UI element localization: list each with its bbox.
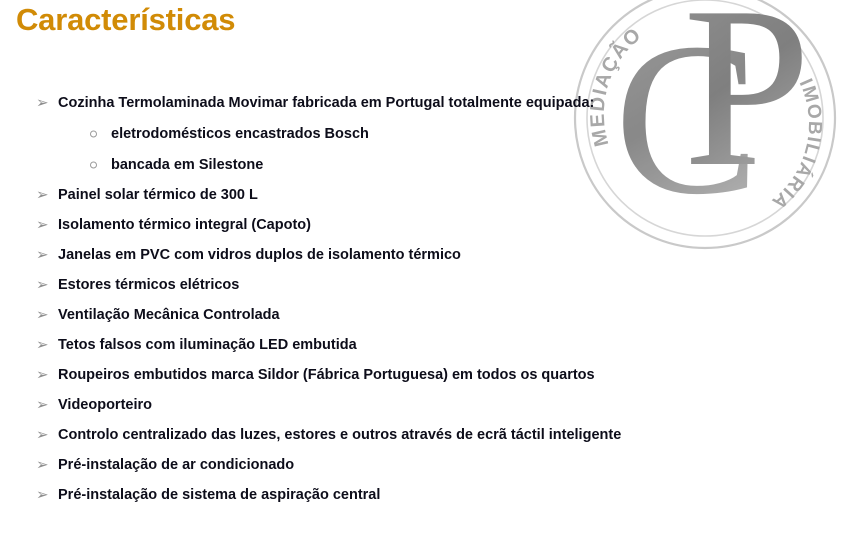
list-item-label: Videoporteiro	[58, 397, 152, 413]
list-item: ➢Cozinha Termolaminada Movimar fabricada…	[0, 88, 842, 118]
features-list: ➢Cozinha Termolaminada Movimar fabricada…	[0, 88, 842, 510]
bullet-arrow-icon: ➢	[36, 188, 49, 203]
list-item-label: Ventilação Mecânica Controlada	[58, 307, 280, 323]
list-item-label: Tetos falsos com iluminação LED embutida	[58, 337, 357, 353]
bullet-arrow-icon: ➢	[36, 248, 49, 263]
bullet-arrow-icon: ➢	[36, 428, 49, 443]
page-title: Características	[16, 2, 235, 38]
list-item-label: Pré-instalação de ar condicionado	[58, 457, 294, 473]
list-item: eletrodomésticos encastrados Bosch	[0, 118, 842, 149]
bullet-arrow-icon: ➢	[36, 368, 49, 383]
list-item-label: bancada em Silestone	[111, 157, 263, 173]
list-item: ➢Ventilação Mecânica Controlada	[0, 300, 842, 330]
list-item-label: Roupeiros embutidos marca Sildor (Fábric…	[58, 367, 595, 383]
list-item-label: Controlo centralizado das luzes, estores…	[58, 427, 621, 443]
list-item: ➢Pré-instalação de sistema de aspiração …	[0, 480, 842, 510]
list-item: ➢Isolamento térmico integral (Capoto)	[0, 210, 842, 240]
list-item: ➢Videoporteiro	[0, 390, 842, 420]
list-item: ➢Roupeiros embutidos marca Sildor (Fábri…	[0, 360, 842, 390]
list-item-label: Pré-instalação de sistema de aspiração c…	[58, 487, 380, 503]
list-item: ➢Painel solar térmico de 300 L	[0, 180, 842, 210]
list-item: bancada em Silestone	[0, 149, 842, 180]
bullet-arrow-icon: ➢	[36, 398, 49, 413]
list-item-label: Estores térmicos elétricos	[58, 277, 239, 293]
slide-canvas: C P MEDIAÇÃO IMOBILIÁRIA Características…	[0, 0, 842, 547]
list-item: ➢Tetos falsos com iluminação LED embutid…	[0, 330, 842, 360]
bullet-arrow-icon: ➢	[36, 488, 49, 503]
list-item-label: Janelas em PVC com vidros duplos de isol…	[58, 247, 461, 263]
bullet-arrow-icon: ➢	[36, 96, 49, 111]
bullet-arrow-icon: ➢	[36, 278, 49, 293]
bullet-circle-icon	[90, 161, 97, 168]
list-item-label: Painel solar térmico de 300 L	[58, 187, 258, 203]
bullet-arrow-icon: ➢	[36, 308, 49, 323]
list-item: ➢Estores térmicos elétricos	[0, 270, 842, 300]
bullet-arrow-icon: ➢	[36, 218, 49, 233]
bullet-arrow-icon: ➢	[36, 458, 49, 473]
list-item: ➢Janelas em PVC com vidros duplos de iso…	[0, 240, 842, 270]
list-item: ➢Controlo centralizado das luzes, estore…	[0, 420, 842, 450]
list-item-label: Cozinha Termolaminada Movimar fabricada …	[58, 95, 594, 111]
bullet-arrow-icon: ➢	[36, 338, 49, 353]
bullet-circle-icon	[90, 130, 97, 137]
list-item-label: Isolamento térmico integral (Capoto)	[58, 217, 311, 233]
list-item: ➢Pré-instalação de ar condicionado	[0, 450, 842, 480]
list-item-label: eletrodomésticos encastrados Bosch	[111, 126, 369, 142]
